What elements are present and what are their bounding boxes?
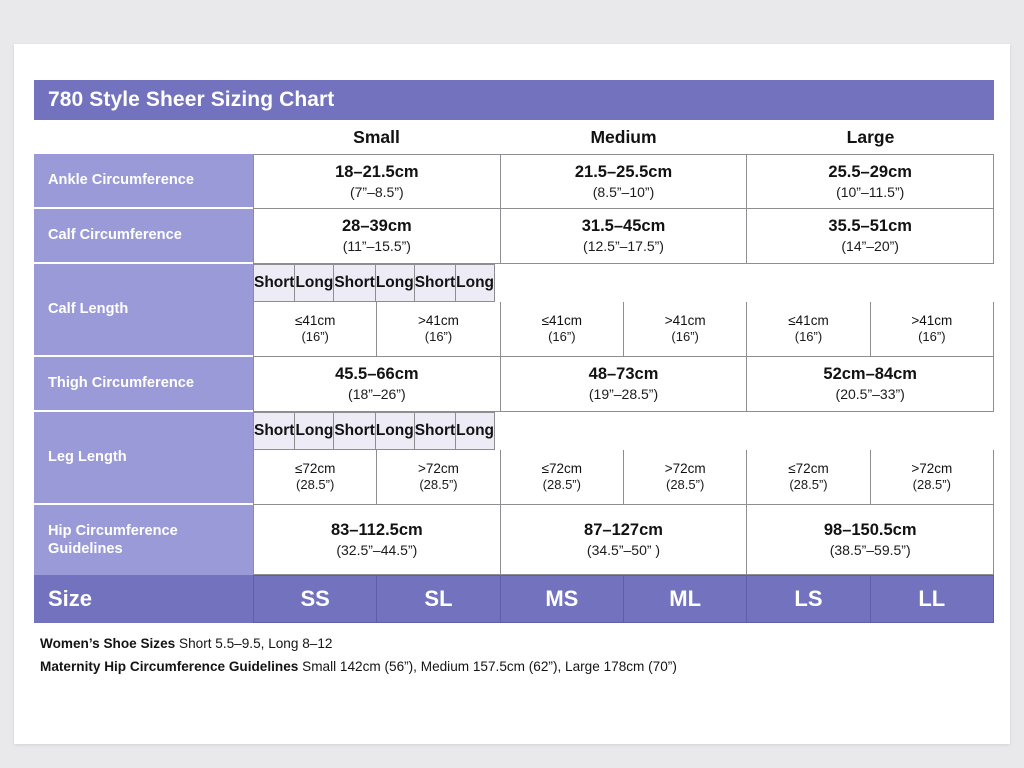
footnote-maternity-hip: Maternity Hip Circumference Guidelines S… <box>40 655 994 678</box>
cell-value-cm: 45.5–66cm <box>256 365 498 384</box>
cell-value-cm: >41cm <box>379 313 497 329</box>
subheader-leg-length-ss: Short <box>253 412 294 450</box>
row-data-calf-length: Short Long Short Long Short Long ≤41cm (… <box>253 264 994 357</box>
cell-value-cm: ≤41cm <box>503 313 621 329</box>
subheader-calf-length-sl: Long <box>294 264 333 302</box>
cell-value-inch: (28.5”) <box>256 477 374 493</box>
cell-value-cm: ≤72cm <box>256 461 374 477</box>
footnote-shoe-sizes-value: Short 5.5–9.5, Long 8–12 <box>179 636 332 651</box>
cell-leglen-ss: ≤72cm (28.5”) <box>253 450 376 505</box>
data-group: 18–21.5cm (7”–8.5”) 21.5–25.5cm (8.5”–10… <box>253 154 994 209</box>
row-label-hip-circumference-guidelines: Hip Circumference Guidelines <box>34 505 253 575</box>
subheader-group: Short Long Short Long Short Long <box>253 264 994 302</box>
row-data-leg-length: Short Long Short Long Short Long ≤72cm (… <box>253 412 994 505</box>
cell-value-inch: (16”) <box>873 329 991 345</box>
cell-value-inch: (28.5”) <box>749 477 867 493</box>
size-code-row: Size SS SL MS ML LS LL <box>34 575 994 623</box>
cell-value-cm: 35.5–51cm <box>749 217 991 236</box>
cell-leglen-ll: >72cm (28.5”) <box>870 450 994 505</box>
cell-value-cm: 98–150.5cm <box>749 521 991 540</box>
page-title: 780 Style Sheer Sizing Chart <box>48 88 334 112</box>
cell-value-inch: (10”–11.5”) <box>749 184 991 201</box>
cell-value-inch: (16”) <box>379 329 497 345</box>
cell-value-inch: (16”) <box>626 329 744 345</box>
size-group-small: Small <box>253 127 500 148</box>
cell-value-inch: (14”–20”) <box>749 238 991 255</box>
cell-value-cm: 28–39cm <box>256 217 498 236</box>
cell-value-inch: (32.5”–44.5”) <box>256 542 498 559</box>
size-code-sl: SL <box>376 575 499 623</box>
cell-calflen-ls: ≤41cm (16”) <box>746 302 869 357</box>
row-label-calf-length: Calf Length <box>34 264 253 357</box>
subheader-leg-length-sl: Long <box>294 412 333 450</box>
cell-calfcirc-small: 28–39cm (11”–15.5”) <box>253 209 500 264</box>
cell-leglen-ms: ≤72cm (28.5”) <box>500 450 623 505</box>
cell-thigh-medium: 48–73cm (19”–28.5”) <box>500 357 747 412</box>
cell-value-cm: >72cm <box>873 461 991 477</box>
size-group-medium: Medium <box>500 127 747 148</box>
cell-value-inch: (8.5”–10”) <box>503 184 745 201</box>
cell-value-inch: (28.5”) <box>379 477 497 493</box>
cell-ankle-small: 18–21.5cm (7”–8.5”) <box>253 154 500 209</box>
cell-value-cm: ≤41cm <box>256 313 374 329</box>
data-group: ≤41cm (16”) >41cm (16”) ≤41cm (16”) <box>253 302 994 357</box>
data-group: 28–39cm (11”–15.5”) 31.5–45cm (12.5”–17.… <box>253 209 994 264</box>
subheader-leg-length-ml: Long <box>375 412 414 450</box>
row-label-size: Size <box>34 575 253 623</box>
cell-leglen-sl: >72cm (28.5”) <box>376 450 499 505</box>
subheader-calf-length-ml: Long <box>375 264 414 302</box>
cell-value-cm: >41cm <box>626 313 744 329</box>
table-row: Ankle Circumference 18–21.5cm (7”–8.5”) … <box>34 154 994 209</box>
cell-thigh-large: 52cm–84cm (20.5”–33”) <box>746 357 994 412</box>
cell-hip-large: 98–150.5cm (38.5”–59.5”) <box>746 505 994 575</box>
sizing-chart-card: 780 Style Sheer Sizing Chart Small Mediu… <box>14 44 1010 744</box>
subheader-leg-length-ll: Long <box>455 412 495 450</box>
subheader-group: Short Long Short Long Short Long <box>253 412 994 450</box>
cell-calflen-ll: >41cm (16”) <box>870 302 994 357</box>
size-code-ml: ML <box>623 575 746 623</box>
footnote-maternity-hip-label: Maternity Hip Circumference Guidelines <box>40 659 298 674</box>
cell-calfcirc-large: 35.5–51cm (14”–20”) <box>746 209 994 264</box>
row-label-thigh-circumference: Thigh Circumference <box>34 357 253 412</box>
footnote-shoe-sizes-label: Women’s Shoe Sizes <box>40 636 175 651</box>
cell-value-inch: (18”–26”) <box>256 386 498 403</box>
cell-value-inch: (20.5”–33”) <box>749 386 991 403</box>
cell-value-inch: (28.5”) <box>626 477 744 493</box>
subheader-calf-length-ls: Short <box>414 264 455 302</box>
subheader-leg-length-ls: Short <box>414 412 455 450</box>
subheader-leg-length-ms: Short <box>333 412 374 450</box>
row-data-calf-circumference: 28–39cm (11”–15.5”) 31.5–45cm (12.5”–17.… <box>253 209 994 264</box>
size-code-ls: LS <box>746 575 869 623</box>
size-code-ll: LL <box>870 575 994 623</box>
cell-value-inch: (28.5”) <box>503 477 621 493</box>
row-label-leg-length: Leg Length <box>34 412 253 505</box>
cell-hip-medium: 87–127cm (34.5”–50” ) <box>500 505 747 575</box>
cell-ankle-large: 25.5–29cm (10”–11.5”) <box>746 154 994 209</box>
table-row: Leg Length Short Long Short Long Short L… <box>34 412 994 505</box>
cell-value-cm: ≤41cm <box>749 313 867 329</box>
sizing-table: Ankle Circumference 18–21.5cm (7”–8.5”) … <box>34 154 994 623</box>
cell-value-inch: (12.5”–17.5”) <box>503 238 745 255</box>
data-group: 83–112.5cm (32.5”–44.5”) 87–127cm (34.5”… <box>253 505 994 575</box>
chart-title-bar: 780 Style Sheer Sizing Chart <box>34 80 994 120</box>
cell-value-inch: (16”) <box>749 329 867 345</box>
subheader-calf-length-ll: Long <box>455 264 495 302</box>
data-group: 45.5–66cm (18”–26”) 48–73cm (19”–28.5”) … <box>253 357 994 412</box>
cell-value-cm: >41cm <box>873 313 991 329</box>
cell-value-inch: (11”–15.5”) <box>256 238 498 255</box>
cell-value-inch: (38.5”–59.5”) <box>749 542 991 559</box>
cell-value-cm: 48–73cm <box>503 365 745 384</box>
cell-thigh-small: 45.5–66cm (18”–26”) <box>253 357 500 412</box>
footnote-maternity-hip-value: Small 142cm (56”), Medium 157.5cm (62”),… <box>302 659 677 674</box>
cell-value-cm: 21.5–25.5cm <box>503 163 745 182</box>
cell-value-inch: (28.5”) <box>873 477 991 493</box>
cell-value-cm: ≤72cm <box>749 461 867 477</box>
size-group-header-row: Small Medium Large <box>34 120 994 154</box>
cell-value-cm: 83–112.5cm <box>256 521 498 540</box>
cell-ankle-medium: 21.5–25.5cm (8.5”–10”) <box>500 154 747 209</box>
cell-calflen-ml: >41cm (16”) <box>623 302 746 357</box>
cell-calflen-sl: >41cm (16”) <box>376 302 499 357</box>
cell-value-inch: (19”–28.5”) <box>503 386 745 403</box>
row-data-hip-circumference-guidelines: 83–112.5cm (32.5”–44.5”) 87–127cm (34.5”… <box>253 505 994 575</box>
table-row: Thigh Circumference 45.5–66cm (18”–26”) … <box>34 357 994 412</box>
cell-leglen-ml: >72cm (28.5”) <box>623 450 746 505</box>
subheader-calf-length-ms: Short <box>333 264 374 302</box>
cell-calfcirc-medium: 31.5–45cm (12.5”–17.5”) <box>500 209 747 264</box>
row-data-thigh-circumference: 45.5–66cm (18”–26”) 48–73cm (19”–28.5”) … <box>253 357 994 412</box>
cell-value-inch: (16”) <box>503 329 621 345</box>
cell-leglen-ls: ≤72cm (28.5”) <box>746 450 869 505</box>
cell-value-cm: 52cm–84cm <box>749 365 991 384</box>
row-data-ankle-circumference: 18–21.5cm (7”–8.5”) 21.5–25.5cm (8.5”–10… <box>253 154 994 209</box>
row-label-ankle-circumference: Ankle Circumference <box>34 154 253 209</box>
cell-calflen-ss: ≤41cm (16”) <box>253 302 376 357</box>
cell-value-cm: 87–127cm <box>503 521 745 540</box>
cell-value-cm: 31.5–45cm <box>503 217 745 236</box>
size-code-ms: MS <box>500 575 623 623</box>
cell-hip-small: 83–112.5cm (32.5”–44.5”) <box>253 505 500 575</box>
cell-value-inch: (7”–8.5”) <box>256 184 498 201</box>
table-row: Hip Circumference Guidelines 83–112.5cm … <box>34 505 994 575</box>
chart-footnotes: Women’s Shoe Sizes Short 5.5–9.5, Long 8… <box>34 632 994 679</box>
cell-calflen-ms: ≤41cm (16”) <box>500 302 623 357</box>
cell-value-cm: 25.5–29cm <box>749 163 991 182</box>
row-label-calf-circumference: Calf Circumference <box>34 209 253 264</box>
subheader-calf-length-ss: Short <box>253 264 294 302</box>
cell-value-inch: (16”) <box>256 329 374 345</box>
cell-value-inch: (34.5”–50” ) <box>503 542 745 559</box>
table-row: Calf Circumference 28–39cm (11”–15.5”) 3… <box>34 209 994 264</box>
size-group-large: Large <box>747 127 994 148</box>
chart-container: 780 Style Sheer Sizing Chart Small Mediu… <box>34 80 994 679</box>
data-group: ≤72cm (28.5”) >72cm (28.5”) ≤72cm (28.5”… <box>253 450 994 505</box>
cell-value-cm: ≤72cm <box>503 461 621 477</box>
footnote-shoe-sizes: Women’s Shoe Sizes Short 5.5–9.5, Long 8… <box>40 632 994 655</box>
size-code-ss: SS <box>253 575 376 623</box>
cell-value-cm: >72cm <box>379 461 497 477</box>
cell-value-cm: 18–21.5cm <box>256 163 498 182</box>
cell-value-cm: >72cm <box>626 461 744 477</box>
page-canvas: 780 Style Sheer Sizing Chart Small Mediu… <box>0 0 1024 768</box>
table-row: Calf Length Short Long Short Long Short … <box>34 264 994 357</box>
